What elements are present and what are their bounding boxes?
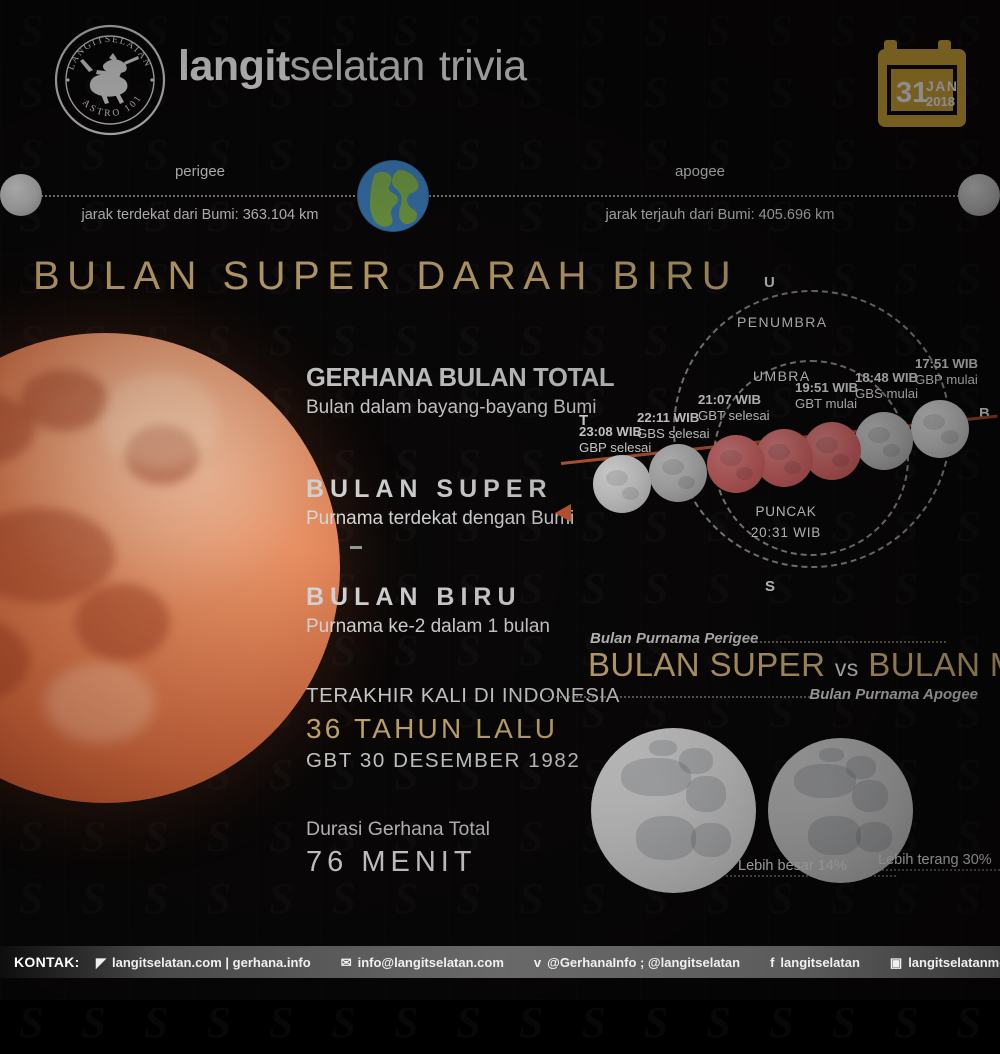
fact-blue-moon: BULAN BIRU Purnama ke-2 dalam 1 bulan [306,583,550,638]
phase-moon-gbs-selesai [649,444,707,502]
perigee-label: perigee [50,163,350,180]
phase-label-gbp-mulai: 17:51 WIB GBP mulai [915,356,978,387]
eclipse-path-diagram: PENUMBRA UMBRA U S T B 23:08 WIB GBP sel… [555,272,1000,612]
duration-block: Durasi Gerhana Total 76 MENIT [306,818,490,879]
footer-item-3[interactable]: flangitselatan [770,955,860,970]
fact-super-sub: Purnama terdekat dengan Bumi [306,508,574,530]
footer-item-text-2: @GerhanaInfo ; @langitselatan [547,955,740,970]
footer-bar: ◤langitselatan.com | gerhana.info✉info@l… [0,946,1000,978]
calendar-icon: 31 JAN 2018 [876,38,968,130]
apogee-label: apogee [550,163,850,180]
axis-label-b: B [979,405,990,422]
perigee-value: jarak terdekat dari Bumi: 363.104 km [10,207,390,223]
phase-time-gbp-mulai: 17:51 WIB [915,356,978,372]
compare-rule-bottom [548,696,810,698]
phase-label-gbs-mulai: 18:48 WIB GBS mulai [855,370,918,401]
phase-event-gbp-mulai: GBP mulai [915,372,978,387]
footer-item-text-1: info@langitselatan.com [358,955,504,970]
svg-text:ASTRO 101: ASTRO 101 [80,93,145,120]
caption-bigger: Lebih besar 14% [738,858,847,874]
peak-time: 20:31 WIB [731,525,841,540]
phase-event-gbt-mulai: GBT mulai [795,396,857,411]
orbit-line [18,195,982,197]
axis-label-s: S [765,578,775,595]
footer-contact-list: ◤langitselatan.com | gerhana.info✉info@l… [96,955,1000,970]
fact-biru-heading: BULAN BIRU [306,583,550,612]
footer-item-0[interactable]: ◤langitselatan.com | gerhana.info [96,955,311,970]
apogee-moon-icon [958,174,1000,216]
footer-item-4[interactable]: ▣langitselatanmedia [890,955,1000,970]
caption-rule-bigger [726,875,896,877]
phase-moon-gbp-mulai [911,400,969,458]
compare-title-vs: vs [835,655,859,681]
brand-langit: langit [178,42,290,90]
brand-title: langitselatantrivia [178,42,527,91]
email-icon: ✉ [341,956,352,969]
divider-dash [350,546,362,549]
footer-item-2[interactable]: ᴠ@GerhanaInfo ; @langitselatan [534,955,740,970]
phase-moon-gbt-selesai [707,435,765,493]
compare-rule-top [756,641,946,643]
orbit-distance-strip: perigee jarak terdekat dari Bumi: 363.10… [0,150,1000,242]
footer-item-text-0: langitselatan.com | gerhana.info [112,955,311,970]
phase-moon-gbs-mulai [855,412,913,470]
caption-rule-brighter [866,869,1000,871]
peak-label: PUNCAK [731,504,841,519]
phase-event-gbs-mulai: GBS mulai [855,386,918,401]
duration-value: 76 MENIT [306,846,490,879]
phase-moon-gbp-selesai [593,455,651,513]
brand-trivia: trivia [439,42,527,90]
footer-kontak-label: KONTAK: [14,946,80,978]
instagram-icon: ▣ [890,956,902,969]
facebook-icon: f [770,956,774,969]
compare-title-right: BULAN MINI [868,646,1000,683]
phase-time-gbt-selesai: 21:07 WIB [698,392,770,408]
footer-item-1[interactable]: ✉info@langitselatan.com [341,955,504,970]
phase-time-gbt-mulai: 19:51 WIB [795,380,858,396]
phase-event-gbs-selesai: GBS selesai [637,426,710,441]
phase-label-gbt-mulai: 19:51 WIB GBT mulai [795,380,858,411]
compare-subtitle-apogee: Bulan Purnama Apogee [809,686,978,703]
footer-item-text-4: langitselatanmedia [908,955,1000,970]
fact-super-moon: BULAN SUPER Purnama terdekat dengan Bumi [306,475,574,530]
langitselatan-logo-icon: LANGITSELATAN ASTRO 101 [52,22,168,138]
fact-biru-sub: Purnama ke-2 dalam 1 bulan [306,616,550,638]
track-direction-arrow-icon [555,504,571,522]
compare-subtitle-perigee: Bulan Purnama Perigee [590,630,758,647]
brand-selatan: selatan [290,42,425,90]
phase-time-gbs-mulai: 18:48 WIB [855,370,918,386]
phase-event-gbp-selesai: GBP selesai [579,440,651,455]
penumbra-label: PENUMBRA [737,314,828,330]
twitter-icon: ᴠ [534,956,541,969]
duration-label: Durasi Gerhana Total [306,818,490,841]
compare-title-left: BULAN SUPER [588,646,825,683]
header: LANGITSELATAN ASTRO 101 langitselatantri… [0,0,1000,150]
apogee-value: jarak terjauh dari Bumi: 405.696 km [530,207,910,223]
super-vs-mini-section: Bulan Purnama Perigee BULAN SUPER vs BUL… [558,630,1000,900]
supermoon-image [591,728,756,893]
phase-event-gbt-selesai: GBT selesai [698,408,770,423]
rss-icon: ◤ [96,956,106,969]
fact-super-heading: BULAN SUPER [306,475,574,504]
calendar-day: 31 [896,77,928,109]
axis-label-u: U [764,274,775,291]
compare-title: BULAN SUPER vs BULAN MINI [588,646,1000,684]
calendar-year: 2018 [926,94,955,109]
footer-item-text-3: langitselatan [780,955,859,970]
phase-label-gbt-selesai: 21:07 WIB GBT selesai [698,392,770,423]
calendar-month: JAN [926,78,959,94]
caption-brighter: Lebih terang 30% [878,852,992,868]
